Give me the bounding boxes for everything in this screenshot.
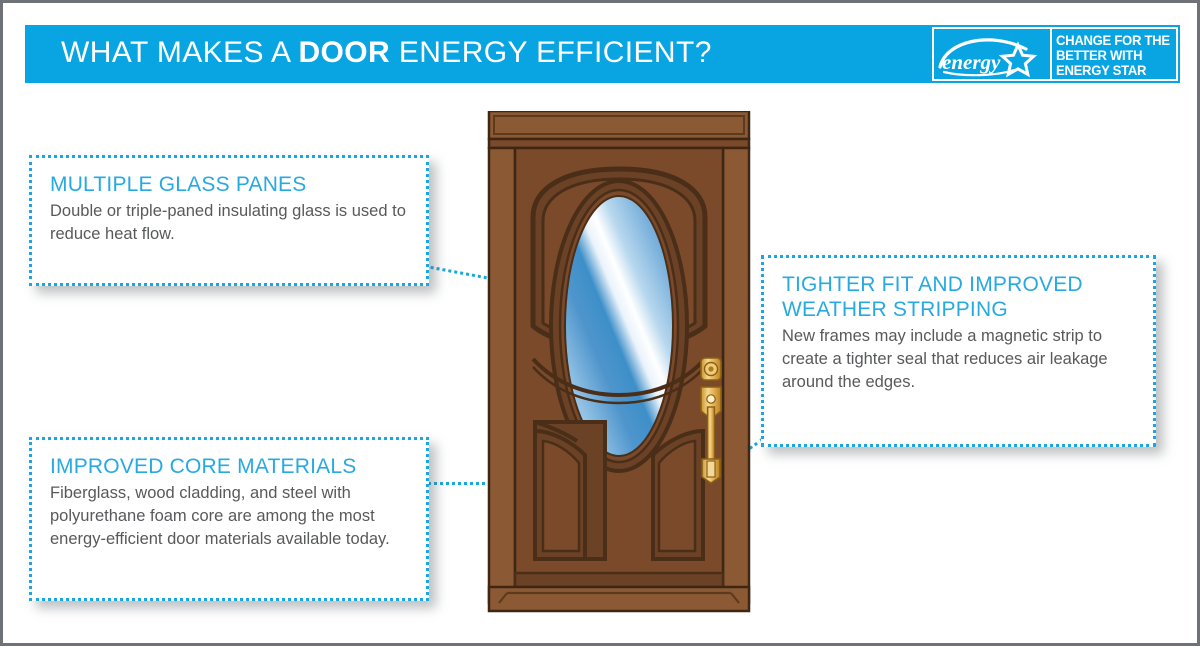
door-svg (485, 111, 753, 623)
energy-star-mark: energy (932, 27, 1052, 81)
lower-left-panel (535, 422, 605, 559)
callout-body: New frames may include a magnetic strip … (782, 325, 1135, 394)
star-icon (1002, 45, 1033, 74)
energy-star-logo: energy CHANGE FOR THE BETTER WITH ENERGY… (932, 27, 1178, 81)
callout-tighter-fit-weather-stripping[interactable]: TIGHTER FIT AND IMPROVED WEATHER STRIPPI… (761, 255, 1156, 447)
callout-title: TIGHTER FIT AND IMPROVED WEATHER STRIPPI… (782, 272, 1135, 322)
deadbolt-lock (701, 358, 721, 380)
page-title-emphasis: DOOR (298, 36, 390, 69)
threshold (489, 573, 749, 611)
transom-header (489, 111, 749, 148)
page-title: WHAT MAKES A DOOR ENERGY EFFICIENT? (61, 36, 712, 70)
right-jamb (723, 148, 749, 603)
callout-improved-core-materials[interactable]: IMPROVED CORE MATERIALS Fiberglass, wood… (29, 437, 429, 601)
callout-multiple-glass-panes[interactable]: MULTIPLE GLASS PANES Double or triple-pa… (29, 155, 429, 286)
callout-title: IMPROVED CORE MATERIALS (50, 454, 408, 479)
energy-star-line-1: CHANGE FOR THE (1056, 33, 1169, 48)
page-title-prefix: WHAT MAKES A (61, 36, 298, 69)
callout-body: Fiberglass, wood cladding, and steel wit… (50, 482, 408, 551)
energy-star-mark-svg: energy (934, 29, 1050, 79)
energy-star-line-2: BETTER WITH (1056, 48, 1169, 63)
lower-right-panel (653, 431, 703, 559)
callout-title: MULTIPLE GLASS PANES (50, 172, 408, 197)
energy-star-line-3: ENERGY STAR (1056, 63, 1169, 78)
header-bar: WHAT MAKES A DOOR ENERGY EFFICIENT? ener… (25, 25, 1180, 83)
page-title-suffix: ENERGY EFFICIENT? (390, 36, 712, 69)
infographic-page: WHAT MAKES A DOOR ENERGY EFFICIENT? ener… (0, 0, 1200, 646)
callout-body: Double or triple-paned insulating glass … (50, 200, 408, 246)
energy-star-wordmark: CHANGE FOR THE BETTER WITH ENERGY STAR (1052, 27, 1178, 81)
left-jamb (489, 148, 515, 603)
svg-text:energy: energy (942, 50, 1001, 74)
wood-entry-door-illustration (485, 111, 753, 623)
